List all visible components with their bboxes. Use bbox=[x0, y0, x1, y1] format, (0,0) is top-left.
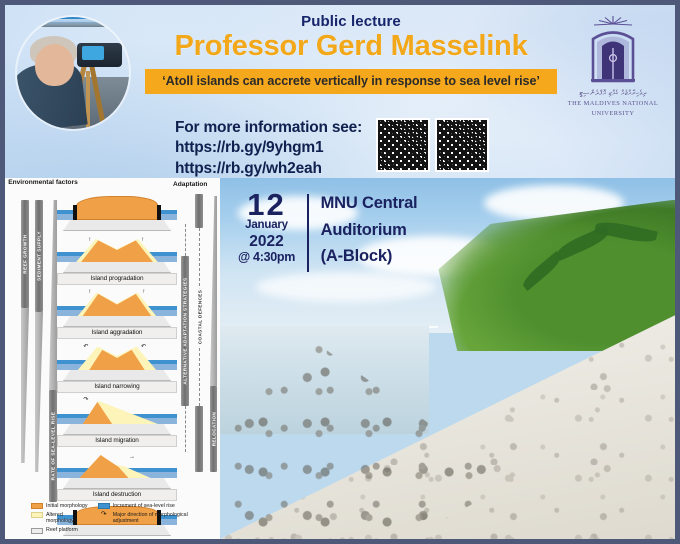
legend-label: Reef platform bbox=[46, 527, 78, 534]
event-month: January bbox=[238, 219, 295, 232]
university-logo: ދިވެހިރާއްޖެއް ކެއްޖި އޮފްދެންސިޓީ The M… bbox=[561, 15, 665, 118]
adapt-bar-coastal-defences-top bbox=[195, 194, 203, 228]
event-details: 12 January 2022 @ 4:30pm MNU Central Aud… bbox=[238, 190, 417, 272]
adapt-bar-alternative-strategies-label: ALTERNATIVE ADAPTATION STRATEGIES bbox=[183, 277, 188, 384]
env-bar-reef-growth: REEF GROWTH bbox=[21, 200, 29, 308]
legend-column-left: Initial morphology Altered morphology Re… bbox=[31, 503, 89, 534]
lecture-quote-banner: ‘Atoll islands can accrete vertically in… bbox=[145, 69, 557, 94]
qr-code-2[interactable] bbox=[435, 118, 489, 172]
adapt-bar-coastal-defences-label: COASTAL DEFENCES bbox=[198, 288, 203, 346]
info-label: For more information see: bbox=[175, 118, 362, 138]
header-text-block: Public lecture Professor Gerd Masselink … bbox=[145, 13, 557, 94]
legend-item: Reef platform bbox=[31, 527, 89, 534]
swatch-sea-level-increment bbox=[98, 503, 110, 509]
legend-item: Increment of sea-level rise bbox=[98, 503, 209, 510]
swatch-reef-platform bbox=[31, 528, 43, 534]
diagram-panel bbox=[57, 194, 177, 231]
panel-label: Island narrowing bbox=[57, 381, 177, 393]
panel-label: Island progradation bbox=[57, 273, 177, 285]
info-lines: For more information see: https://rb.gy/… bbox=[175, 118, 362, 178]
vertical-divider bbox=[307, 194, 309, 272]
logo-dhivehi-text: ދިވެހިރާއްޖެއް ކެއްޖި އޮފްދެންސިޓީ bbox=[561, 89, 665, 98]
env-bar-sediment-supply: SEDIMENT SUPPLY bbox=[35, 200, 43, 312]
atoll-response-diagram: Environmental factors Adaptation REEF GR… bbox=[5, 178, 220, 539]
adjustment-arrow-icon: ↑ bbox=[88, 289, 91, 295]
adapt-bar-coastal-defences: COASTAL DEFENCES bbox=[199, 228, 200, 406]
more-information-row: For more information see: https://rb.gy/… bbox=[175, 118, 489, 178]
venue-line-1: MNU Central bbox=[321, 190, 418, 217]
adapt-bar-relocation-taper bbox=[210, 196, 217, 386]
poster-body: Environmental factors Adaptation REEF GR… bbox=[5, 178, 675, 539]
logo-name-line2: University bbox=[561, 109, 665, 118]
legend-label: Increment of sea-level rise bbox=[113, 503, 175, 510]
page-title: Professor Gerd Masselink bbox=[145, 31, 557, 62]
panel-illustration: ↶ ↶ bbox=[57, 344, 177, 381]
adapt-bar-alternative-dash-top bbox=[185, 224, 186, 256]
speaker-portrait-photo bbox=[17, 17, 129, 129]
env-bar-sea-level-rise-taper bbox=[49, 200, 57, 390]
qr-code-1[interactable] bbox=[376, 118, 430, 172]
adapt-bar-relocation: RELOCATION bbox=[210, 386, 217, 472]
env-bar-sediment-supply-label: SEDIMENT SUPPLY bbox=[37, 231, 42, 281]
diagram-panel: ↶ ↶ Island narrowing bbox=[57, 344, 177, 393]
panel-illustration: ↑ ↑ bbox=[57, 236, 177, 273]
adjustment-arrow-icon: ↑ bbox=[142, 289, 145, 295]
swatch-initial-morphology bbox=[31, 503, 43, 509]
logo-name-line1: The Maldives National bbox=[561, 99, 665, 108]
diagram-panel: ↑ ↑ Island aggradation bbox=[57, 290, 177, 339]
env-bar-sea-level-rise-label: RATE OF SEA-LEVEL RISE bbox=[51, 412, 56, 481]
event-date-block: 12 January 2022 @ 4:30pm bbox=[238, 190, 295, 265]
panel-illustration bbox=[57, 194, 177, 231]
link-url-1[interactable]: https://rb.gy/9yhgm1 bbox=[175, 138, 362, 158]
legend-label: Initial morphology bbox=[46, 503, 88, 510]
adjustment-arrow-icon: ↷ bbox=[83, 397, 88, 403]
event-venue: MNU Central Auditorium (A-Block) bbox=[321, 190, 418, 270]
link-url-2[interactable]: https://rb.gy/wh2eah bbox=[175, 159, 362, 178]
beach-photo: 12 January 2022 @ 4:30pm MNU Central Aud… bbox=[220, 178, 675, 539]
diagram-title-adaptation: Adaptation bbox=[173, 181, 207, 188]
diagram-title-environmental-factors: Environmental factors bbox=[7, 179, 79, 187]
qr-code-group bbox=[376, 118, 489, 172]
env-bar-sea-level-rise: RATE OF SEA-LEVEL RISE bbox=[49, 390, 57, 502]
adapt-bar-relocation-label: RELOCATION bbox=[211, 412, 216, 447]
panel-label: Island aggradation bbox=[57, 327, 177, 339]
venue-line-2: Auditorium bbox=[321, 217, 418, 244]
legend-label: Major direction of morphological adjustm… bbox=[113, 512, 209, 525]
legend-item: Altered morphology bbox=[31, 512, 89, 525]
legend-item: ↷Major direction of morphological adjust… bbox=[98, 512, 209, 525]
adjustment-arrow-icon: ↑ bbox=[88, 237, 91, 243]
event-time: @ 4:30pm bbox=[238, 250, 295, 265]
venue-line-3: (A-Block) bbox=[321, 243, 418, 270]
panel-illustration: → bbox=[57, 452, 177, 489]
env-bar-sediment-supply-taper bbox=[35, 312, 43, 472]
panel-illustration: ↑ ↑ bbox=[57, 290, 177, 327]
legend-column-right: Increment of sea-level rise ↷Major direc… bbox=[98, 503, 209, 534]
legend-label: Altered morphology bbox=[46, 512, 89, 525]
diagram-panel: ↷ Island migration bbox=[57, 398, 177, 447]
diagram-legend: Initial morphology Altered morphology Re… bbox=[31, 503, 209, 534]
cloud-shape bbox=[256, 272, 436, 302]
legend-item: Initial morphology bbox=[31, 503, 89, 510]
diagram-panel: → Island destruction bbox=[57, 452, 177, 501]
adjustment-arrow-icon: → bbox=[129, 454, 135, 460]
event-day: 12 bbox=[238, 190, 295, 219]
env-bar-reef-growth-label: REEF GROWTH bbox=[23, 234, 28, 273]
adapt-bar-coastal-defences-bottom bbox=[195, 406, 203, 472]
mnu-crest-icon bbox=[581, 15, 645, 87]
adjustment-arrow-icon: ↑ bbox=[141, 237, 144, 243]
event-year: 2022 bbox=[238, 233, 295, 250]
panel-label: Island destruction bbox=[57, 489, 177, 501]
env-bar-reef-growth-taper bbox=[21, 308, 29, 463]
adjustment-arrow-icon: ↶ bbox=[141, 344, 146, 350]
adjustment-arrow-icon: ↶ bbox=[83, 344, 88, 350]
adapt-bar-alternative-strategies: ALTERNATIVE ADAPTATION STRATEGIES bbox=[181, 256, 189, 406]
panel-label: Island migration bbox=[57, 435, 177, 447]
swatch-altered-morphology bbox=[31, 512, 43, 518]
poster-header: Public lecture Professor Gerd Masselink … bbox=[5, 5, 675, 178]
diagram-panel: ↑ ↑ Island progradation bbox=[57, 236, 177, 285]
kicker-public-lecture: Public lecture bbox=[145, 13, 557, 30]
adapt-bar-alternative-dash-bottom bbox=[185, 406, 186, 452]
lecture-poster: Public lecture Professor Gerd Masselink … bbox=[0, 0, 680, 544]
swatch-adjustment-arrow-icon: ↷ bbox=[98, 512, 110, 518]
panel-illustration: ↷ bbox=[57, 398, 177, 435]
